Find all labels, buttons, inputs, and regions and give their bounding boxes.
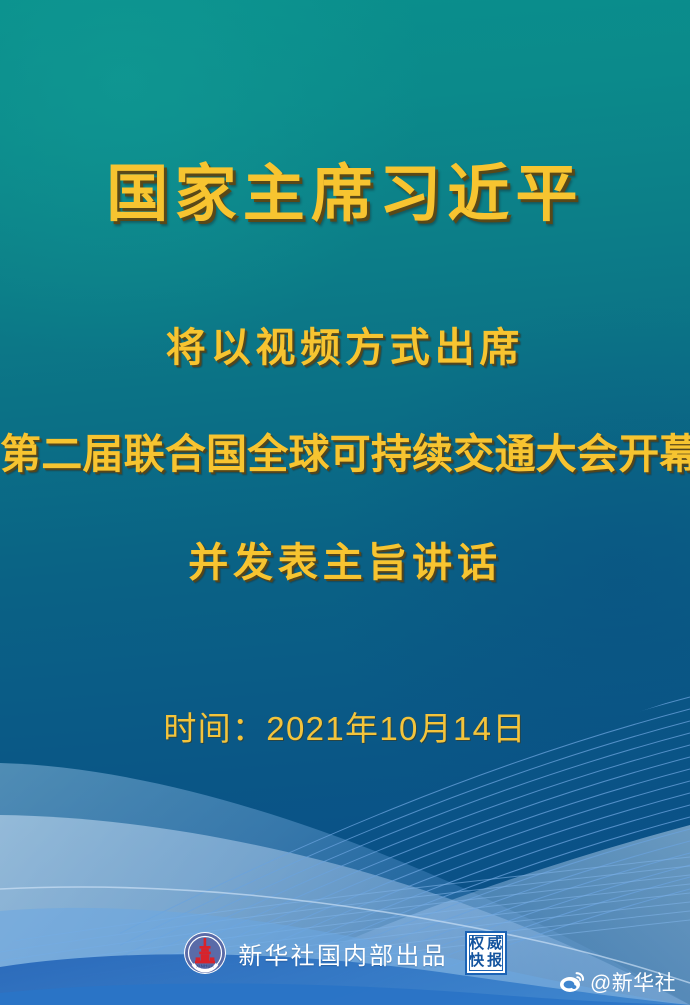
event-date: 时间：2021年10月14日 xyxy=(0,702,690,750)
weibo-handle-label: @新华社 xyxy=(590,967,676,997)
subtitle-line-3: 并发表主旨讲话 xyxy=(0,530,690,588)
stamp-char-4: 报 xyxy=(486,953,504,970)
stamp-char-3: 快 xyxy=(468,953,486,970)
subtitle-line-1: 将以视频方式出席 xyxy=(0,315,690,373)
xinhua-logo-icon: XINHUA xyxy=(183,931,227,975)
poster-canvas: 国家主席习近平 将以视频方式出席 第二届联合国全球可持续交通大会开幕式 并发表主… xyxy=(0,0,690,1005)
weibo-handle-block[interactable]: @新华社 xyxy=(559,967,676,997)
weibo-icon xyxy=(559,971,585,993)
poster-text-block: 国家主席习近平 将以视频方式出席 第二届联合国全球可持续交通大会开幕式 并发表主… xyxy=(0,0,690,1005)
page-title: 国家主席习近平 xyxy=(0,160,690,231)
stamp-char-2: 威 xyxy=(486,936,504,953)
svg-text:XINHUA: XINHUA xyxy=(196,963,214,968)
authority-stamp: 权 威 快 报 xyxy=(465,931,507,975)
producer-label: 新华社国内部出品 xyxy=(238,936,447,971)
subtitle-line-2: 第二届联合国全球可持续交通大会开幕式 xyxy=(0,420,690,480)
stamp-char-1: 权 xyxy=(468,936,486,953)
